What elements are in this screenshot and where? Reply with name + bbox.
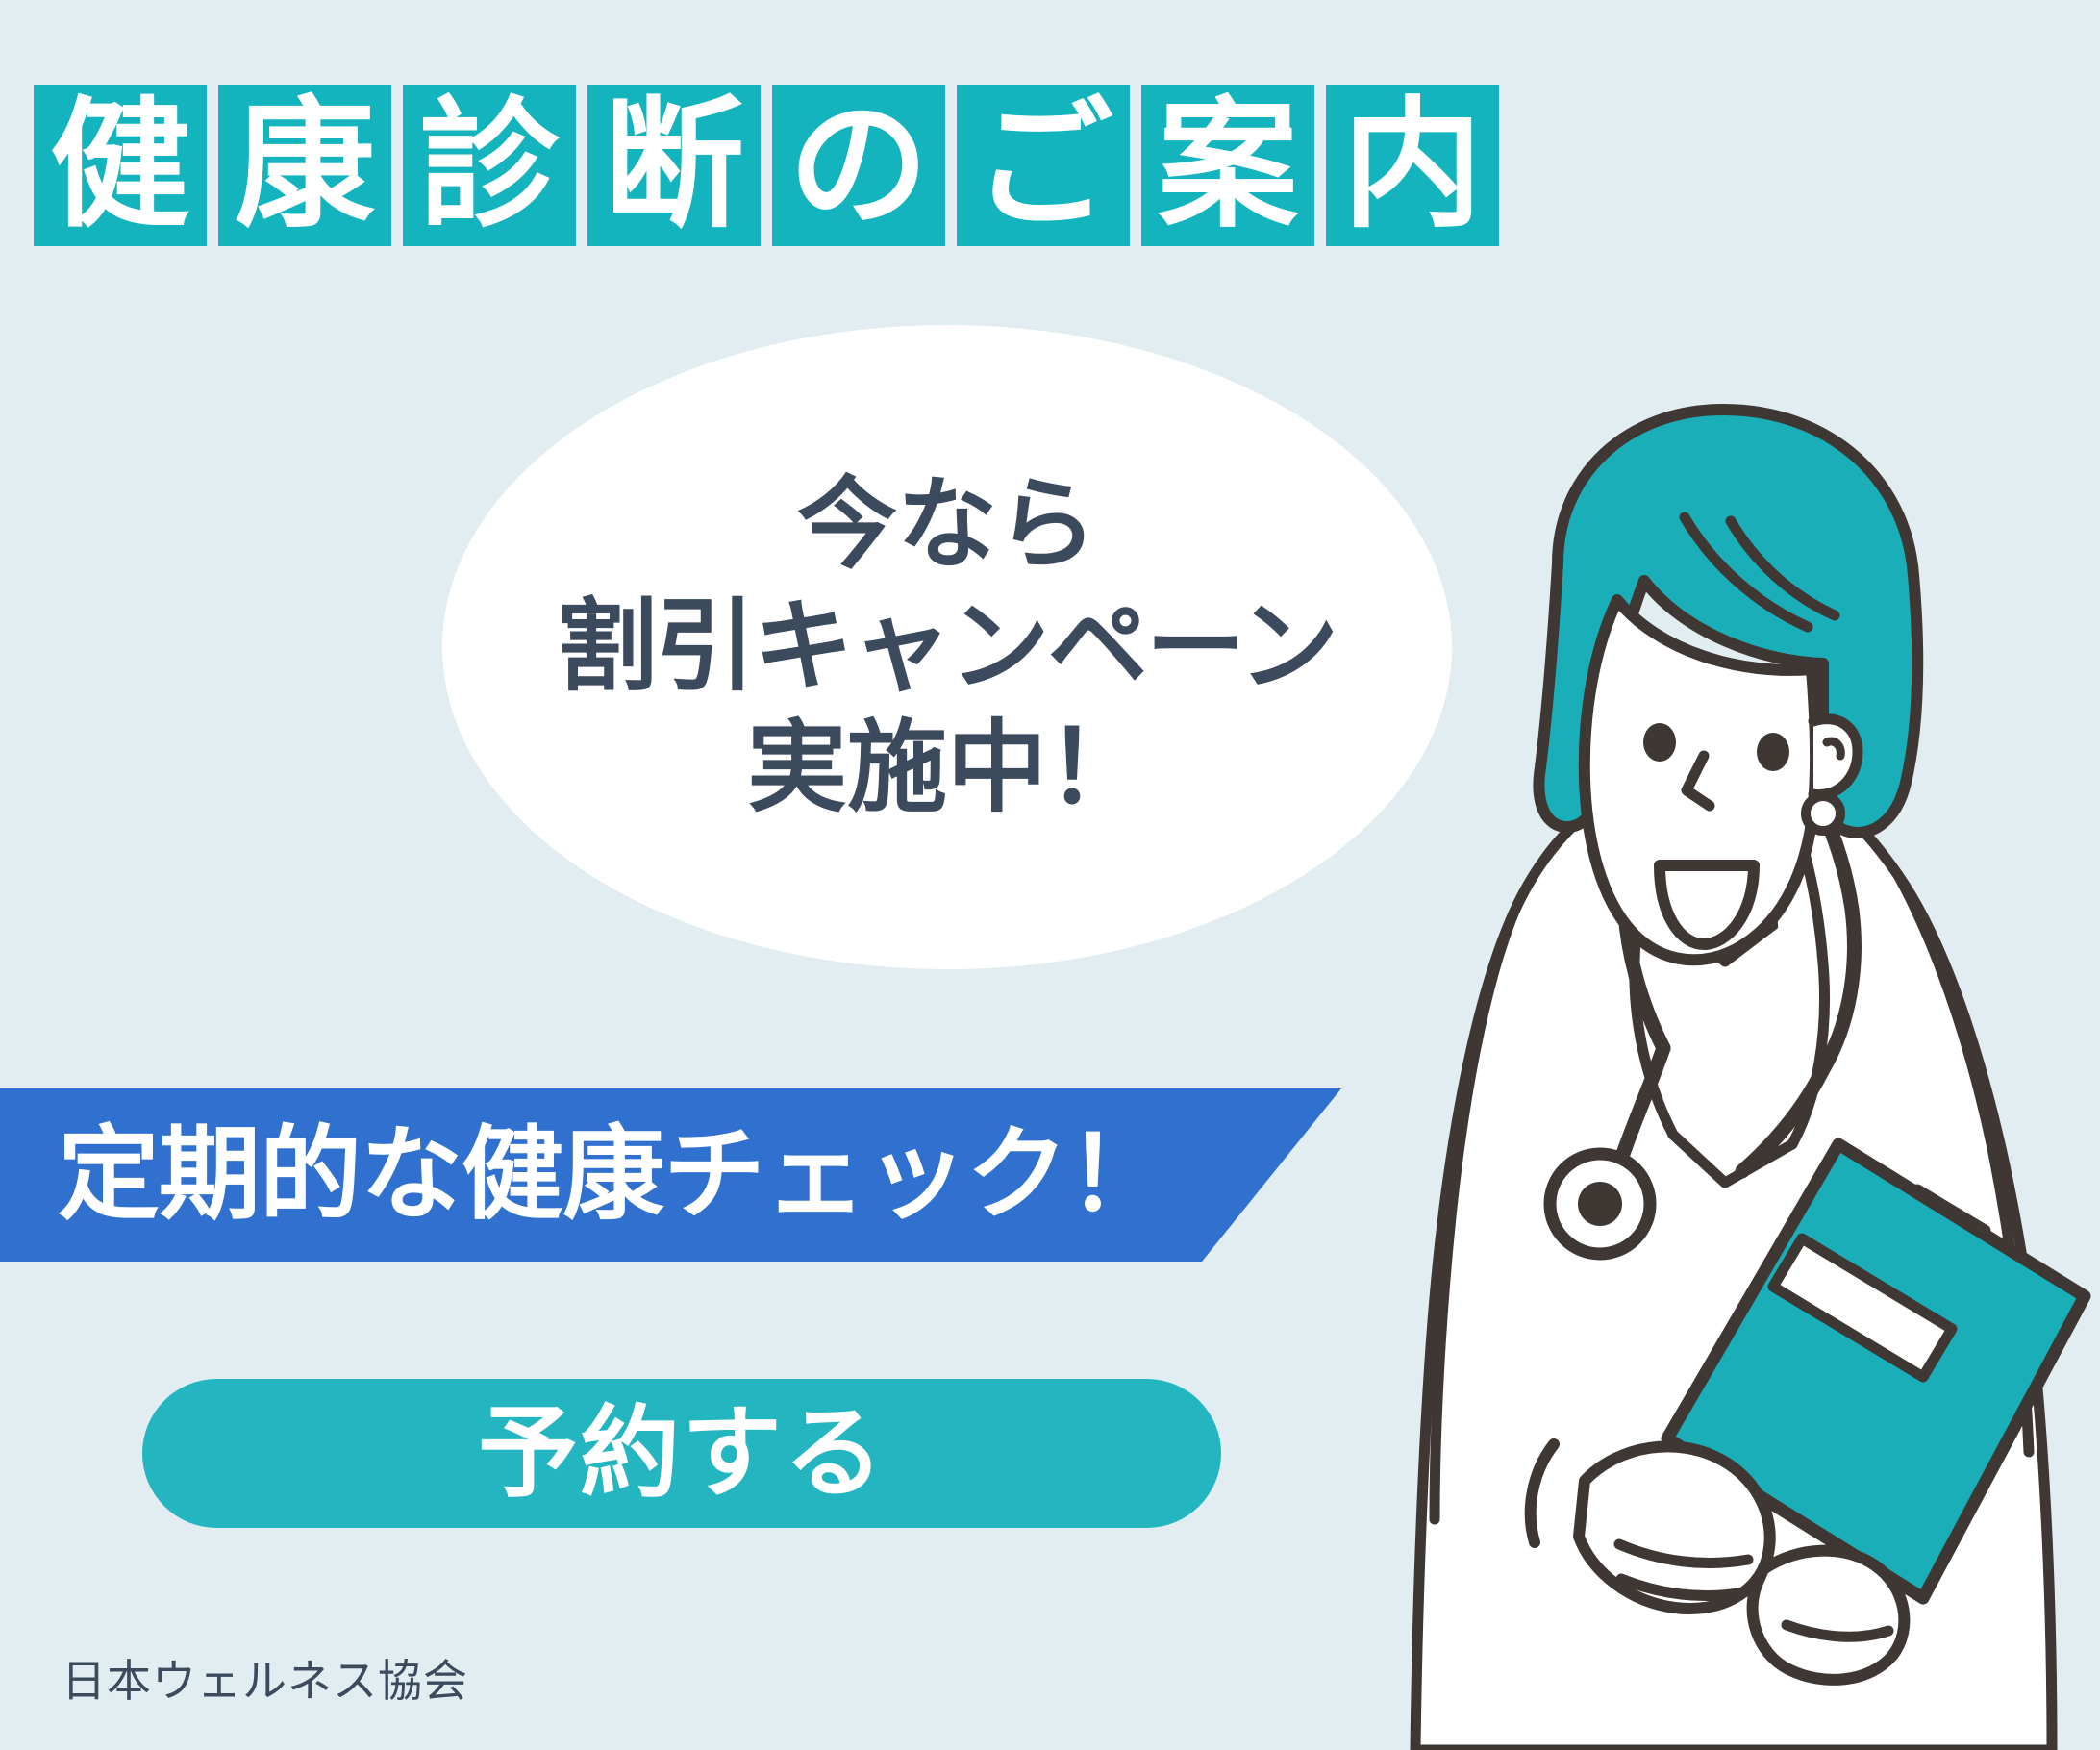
title-char-box: 内 [1326,85,1499,246]
title-char-box: 診 [403,85,576,246]
tagline-ribbon: 定期的な健康チェック！ [0,1088,1341,1262]
female-doctor-illustration [1379,375,2100,1750]
health-checkup-banner: 健 康 診 断 の ご 案 内 今なら 割引キャンペーン 実施中！ 定期的な健康… [0,0,2100,1750]
promo-speech-bubble: 今なら 割引キャンペーン 実施中！ [442,325,1452,969]
title-char-box: 案 [1141,85,1314,246]
organization-name: 日本ウェルネス協会 [62,1646,468,1710]
title-char-box: ご [957,85,1130,246]
promo-line-1: 今なら [797,464,1097,587]
reserve-button[interactable]: 予約する [142,1379,1221,1528]
promo-line-3: 実施中！ [747,708,1147,830]
reserve-button-label: 予約する [478,1404,886,1504]
title-char-box: 康 [218,85,391,246]
promo-line-2: 割引キャンペーン [558,587,1337,709]
title-char-box: 断 [587,85,761,246]
page-title: 健 康 診 断 の ご 案 内 [34,85,1499,246]
tagline-text: 定期的な健康チェック！ [0,1124,1168,1226]
title-char-box: の [772,85,945,246]
title-char-box: 健 [34,85,207,246]
